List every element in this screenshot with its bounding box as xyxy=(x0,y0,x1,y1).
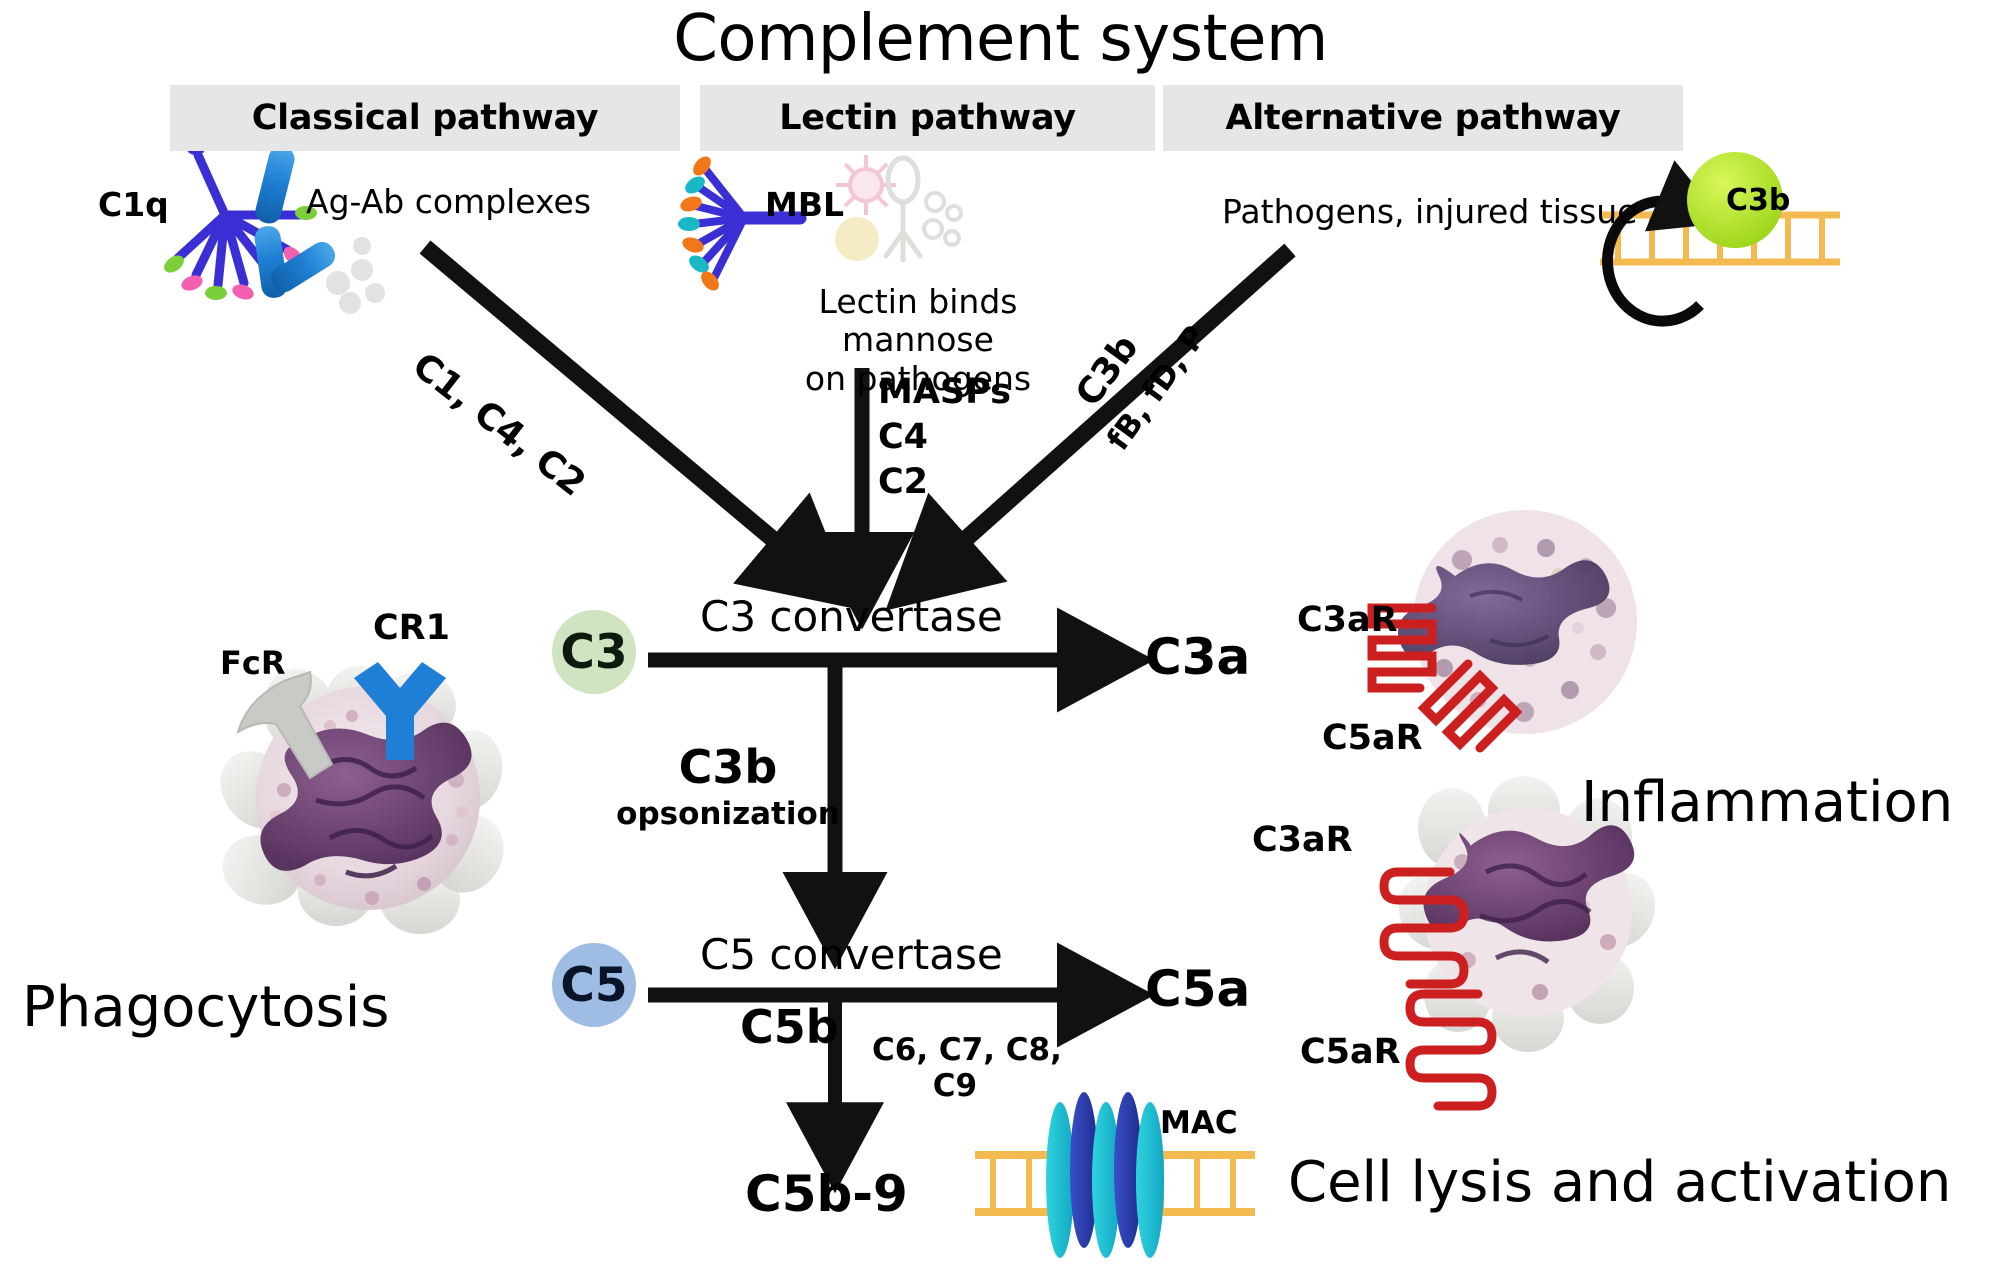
outcome-phagocytosis: Phagocytosis xyxy=(22,975,389,1040)
pathogen-mannose-cluster-icon xyxy=(835,155,961,261)
c5b-label: C5b xyxy=(740,1000,839,1054)
pathway-label-alternative: Alternative pathway xyxy=(1225,98,1620,138)
pathway-label-classical: Classical pathway xyxy=(252,98,598,138)
opsonization-label: opsonization xyxy=(578,796,878,832)
complement-system-diagram: Complement system Classical pathway Lect… xyxy=(0,0,2001,1268)
pathway-header-lectin[interactable]: Lectin pathway xyxy=(700,85,1155,151)
masps-line2: C4 xyxy=(878,417,928,457)
c3a-label: C3a xyxy=(1145,628,1250,686)
outcome-inflammation: Inflammation xyxy=(1581,770,1953,835)
c3-molecule-node[interactable]: C3 xyxy=(552,610,636,694)
outcome-cell-lysis: Cell lysis and activation xyxy=(1288,1150,1951,1215)
page-title: Complement system xyxy=(0,2,2001,76)
c5a-label: C5a xyxy=(1145,960,1250,1018)
trigger-label-classical: Ag-Ab complexes xyxy=(306,183,591,221)
mac-complex-icon xyxy=(1046,1092,1164,1258)
arrow-label-lectin-components: MASPs C4 C2 xyxy=(878,370,1011,504)
antibody-complex-icon xyxy=(253,144,385,314)
mac-label: MAC xyxy=(1160,1105,1238,1141)
masps-line1: MASPs xyxy=(878,372,1011,412)
pathway-header-alternative[interactable]: Alternative pathway xyxy=(1163,85,1683,151)
fcr-label: FcR xyxy=(220,644,285,682)
phagocyte-cell-illustration xyxy=(205,659,517,934)
pathway-header-classical[interactable]: Classical pathway xyxy=(170,85,680,151)
trigger-label-alternative: Pathogens, injured tissue xyxy=(1222,193,1637,231)
c5-molecule-node[interactable]: C5 xyxy=(552,943,636,1027)
c5-convertase-label: C5 convertase xyxy=(700,930,1003,979)
c3b-opsonization-group: C3b opsonization xyxy=(578,740,878,832)
c5b9-label: C5b-9 xyxy=(745,1165,908,1223)
c3b-label: C3b xyxy=(578,740,878,794)
c5-label: C5 xyxy=(560,958,627,1013)
pathway-label-lectin: Lectin pathway xyxy=(779,98,1075,138)
inflammation-cell-upper-illustration xyxy=(1372,510,1637,748)
cr1-label: CR1 xyxy=(373,608,450,648)
masps-line3: C2 xyxy=(878,462,928,502)
arrow-label-terminal-components: C6, C7, C8, C9 xyxy=(872,1033,1062,1105)
c3-label: C3 xyxy=(560,625,627,680)
c3aR-upper-label: C3aR xyxy=(1297,600,1398,640)
c3-convertase-label: C3 convertase xyxy=(700,592,1003,641)
c1q-label: C1q xyxy=(98,185,169,224)
c5aR-lower-label: C5aR xyxy=(1300,1032,1401,1072)
terminal-line1: C6, C7, C8, xyxy=(872,1032,1062,1068)
terminal-line2: C9 xyxy=(872,1069,1062,1105)
c3b-amplification-label: C3b xyxy=(1726,183,1790,218)
c3aR-lower-label: C3aR xyxy=(1252,820,1353,860)
trigger-lectin-line1: Lectin binds mannose xyxy=(819,282,1018,359)
mbl-label: MBL xyxy=(765,185,844,224)
c5aR-upper-label: C5aR xyxy=(1322,718,1423,758)
